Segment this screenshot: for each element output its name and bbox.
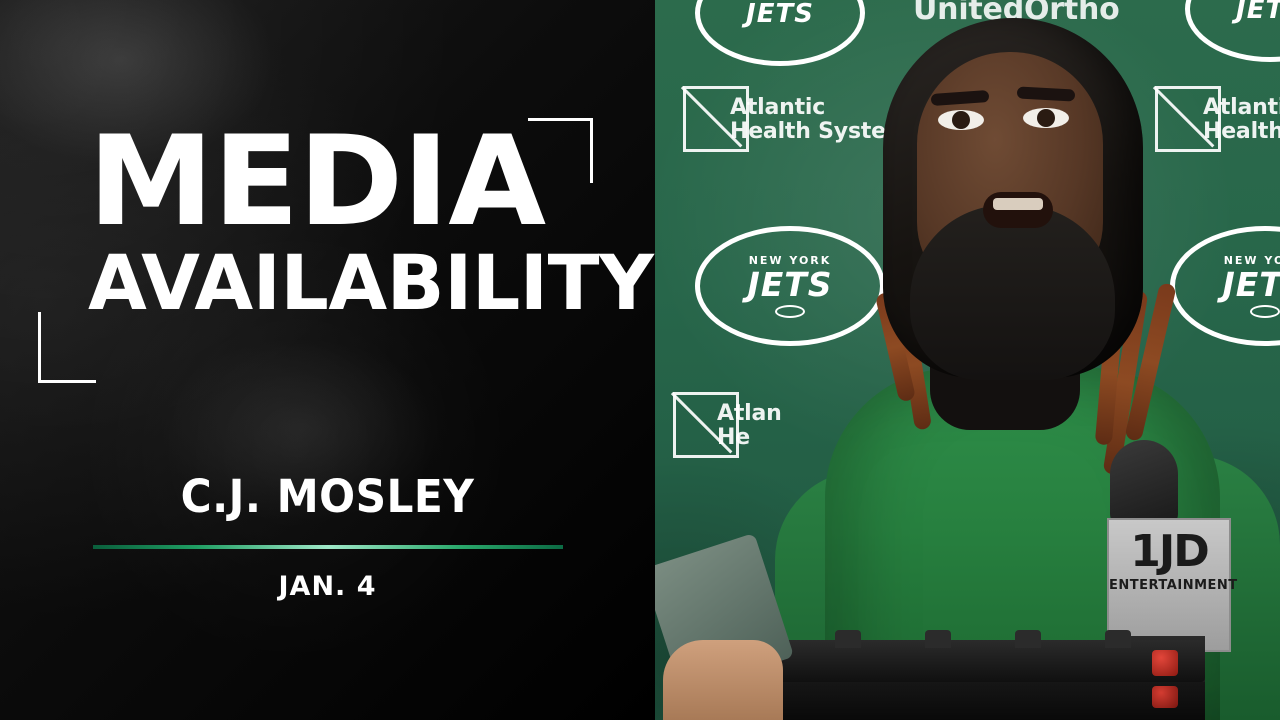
hand (663, 640, 783, 720)
teeth (993, 198, 1043, 210)
video-thumbnail: MEDIA AVAILABILITY C.J. MOSLEY JAN. 4 Un… (0, 0, 1280, 720)
mic-letters: JD (1159, 526, 1208, 577)
headline-group: MEDIA AVAILABILITY (88, 128, 653, 321)
press-conference-photo: UnitedOrtho Atlantic Health System. Atla… (655, 0, 1280, 720)
recorder-indicator (1152, 650, 1178, 676)
podium-notch (1105, 630, 1131, 648)
mic-number: 1 (1130, 526, 1159, 577)
neck-gaiter (910, 205, 1115, 380)
microphone-channel-number: 1JD (1109, 530, 1229, 574)
headline-sub: AVAILABILITY (88, 245, 653, 321)
eye-right (1023, 108, 1069, 128)
pupil (952, 111, 970, 129)
podium-notch (835, 630, 861, 648)
microphone-channel-sub: ENTERTAINMENT (1109, 578, 1229, 593)
title-card-panel: MEDIA AVAILABILITY C.J. MOSLEY JAN. 4 (0, 0, 655, 720)
accent-divider (93, 545, 563, 549)
date-label: JAN. 4 (0, 571, 655, 602)
podium-notch (1015, 630, 1041, 648)
headline-main: MEDIA (88, 128, 655, 237)
person-name: C.J. MOSLEY (20, 470, 636, 523)
recorder-indicator (1152, 686, 1178, 708)
podium-notch (925, 630, 951, 648)
eye-left (938, 110, 984, 130)
microphone-head (1110, 440, 1178, 528)
subject-group: C.J. MOSLEY JAN. 4 (0, 470, 655, 602)
pupil (1037, 109, 1055, 127)
